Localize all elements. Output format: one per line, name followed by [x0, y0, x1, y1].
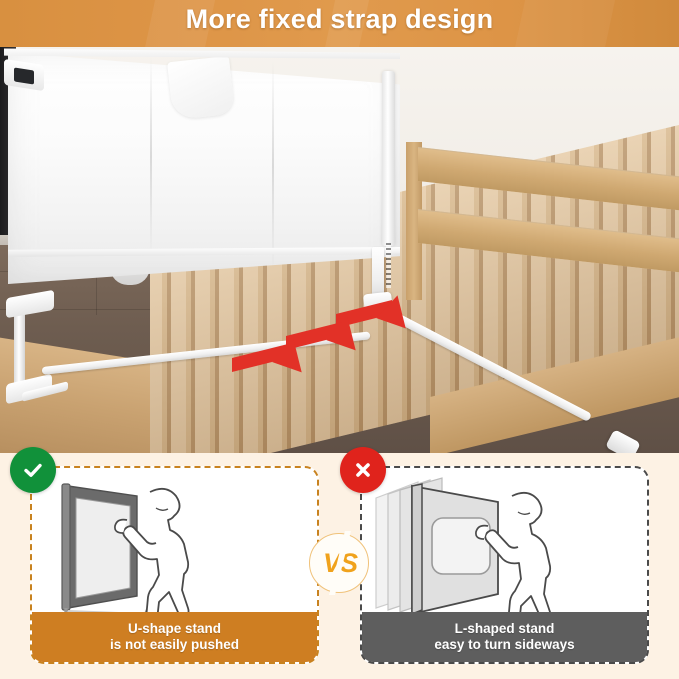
illustration-l-shape-stand: [362, 468, 647, 616]
guardrail-post-right: [382, 71, 395, 246]
caption-line-1: L-shaped stand: [455, 621, 555, 637]
caption-l-shape: L-shaped stand easy to turn sideways: [362, 612, 647, 662]
guardrail-fold: [150, 57, 152, 257]
illustration-u-shape-stand: [32, 468, 317, 616]
page-title: More fixed strap design: [0, 4, 679, 35]
product-photo: Note: Only single guardrails include str…: [0, 47, 679, 453]
guardrail-fold: [272, 61, 274, 271]
comparison-panel-good[interactable]: U-shape stand is not easily pushed: [30, 466, 319, 664]
comparison-panel-bad[interactable]: L-shaped stand easy to turn sideways: [360, 466, 649, 664]
product-infographic: More fixed strap design: [0, 0, 679, 679]
direction-arrows: [224, 305, 414, 375]
guardrail-strap-flap: [167, 56, 235, 120]
guardrail-post-left: [14, 305, 25, 389]
caption-line-2: easy to turn sideways: [434, 637, 574, 653]
caption-line-1: U-shape stand: [128, 621, 221, 637]
caption-u-shape: U-shape stand is not easily pushed: [32, 612, 317, 662]
caption-line-2: is not easily pushed: [110, 637, 239, 653]
guardrail-bracket-insert: [14, 67, 34, 84]
guardrail-height-holes: [386, 243, 391, 288]
header-banner: More fixed strap design: [0, 0, 679, 48]
vs-badge: VS: [309, 533, 369, 593]
